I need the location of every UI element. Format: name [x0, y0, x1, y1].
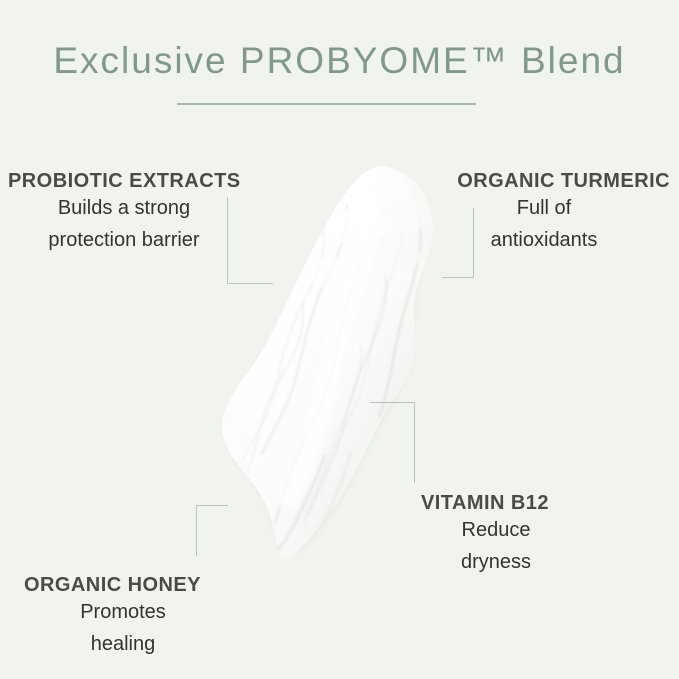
- callout-body-line: Promotes: [24, 596, 222, 628]
- callout-body: Reduce dryness: [422, 514, 570, 579]
- callout-heading: ORGANIC HONEY: [24, 574, 222, 596]
- connector-honey-vertical: [196, 505, 197, 556]
- callout-organic-honey: ORGANIC HONEY Promotes healing: [24, 574, 222, 661]
- callout-body: Full of antioxidants: [418, 192, 670, 257]
- callout-heading: PROBIOTIC EXTRACTS: [8, 170, 244, 192]
- callout-body-line: Builds a strong: [4, 192, 244, 224]
- page-title: Exclusive PROBYOME™ Blend: [0, 40, 679, 82]
- connector-vitamin-horizontal: [370, 402, 415, 403]
- callout-probiotic-extracts: PROBIOTIC EXTRACTS Builds a strong prote…: [8, 170, 244, 257]
- connector-turmeric-horizontal: [442, 277, 474, 278]
- title-divider: [177, 103, 476, 105]
- connector-honey-horizontal: [196, 505, 228, 506]
- callout-vitamin-b12: VITAMIN B12 Reduce dryness: [421, 492, 570, 579]
- callout-body-line: antioxidants: [418, 224, 670, 256]
- callout-body-line: Full of: [418, 192, 670, 224]
- connector-vitamin-vertical: [414, 402, 415, 483]
- callout-body: Builds a strong protection barrier: [4, 192, 244, 257]
- callout-organic-turmeric: ORGANIC TURMERIC Full of antioxidants: [418, 170, 670, 257]
- callout-body-line: Reduce: [422, 514, 570, 546]
- callout-heading: VITAMIN B12: [421, 492, 570, 514]
- callout-body: Promotes healing: [24, 596, 222, 661]
- callout-body-line: dryness: [422, 546, 570, 578]
- callout-body-line: protection barrier: [4, 224, 244, 256]
- infographic-canvas: Exclusive PROBYOME™ Blend: [0, 0, 679, 679]
- callout-body-line: healing: [24, 628, 222, 660]
- callout-heading: ORGANIC TURMERIC: [418, 170, 670, 192]
- connector-probiotic-horizontal: [227, 283, 273, 284]
